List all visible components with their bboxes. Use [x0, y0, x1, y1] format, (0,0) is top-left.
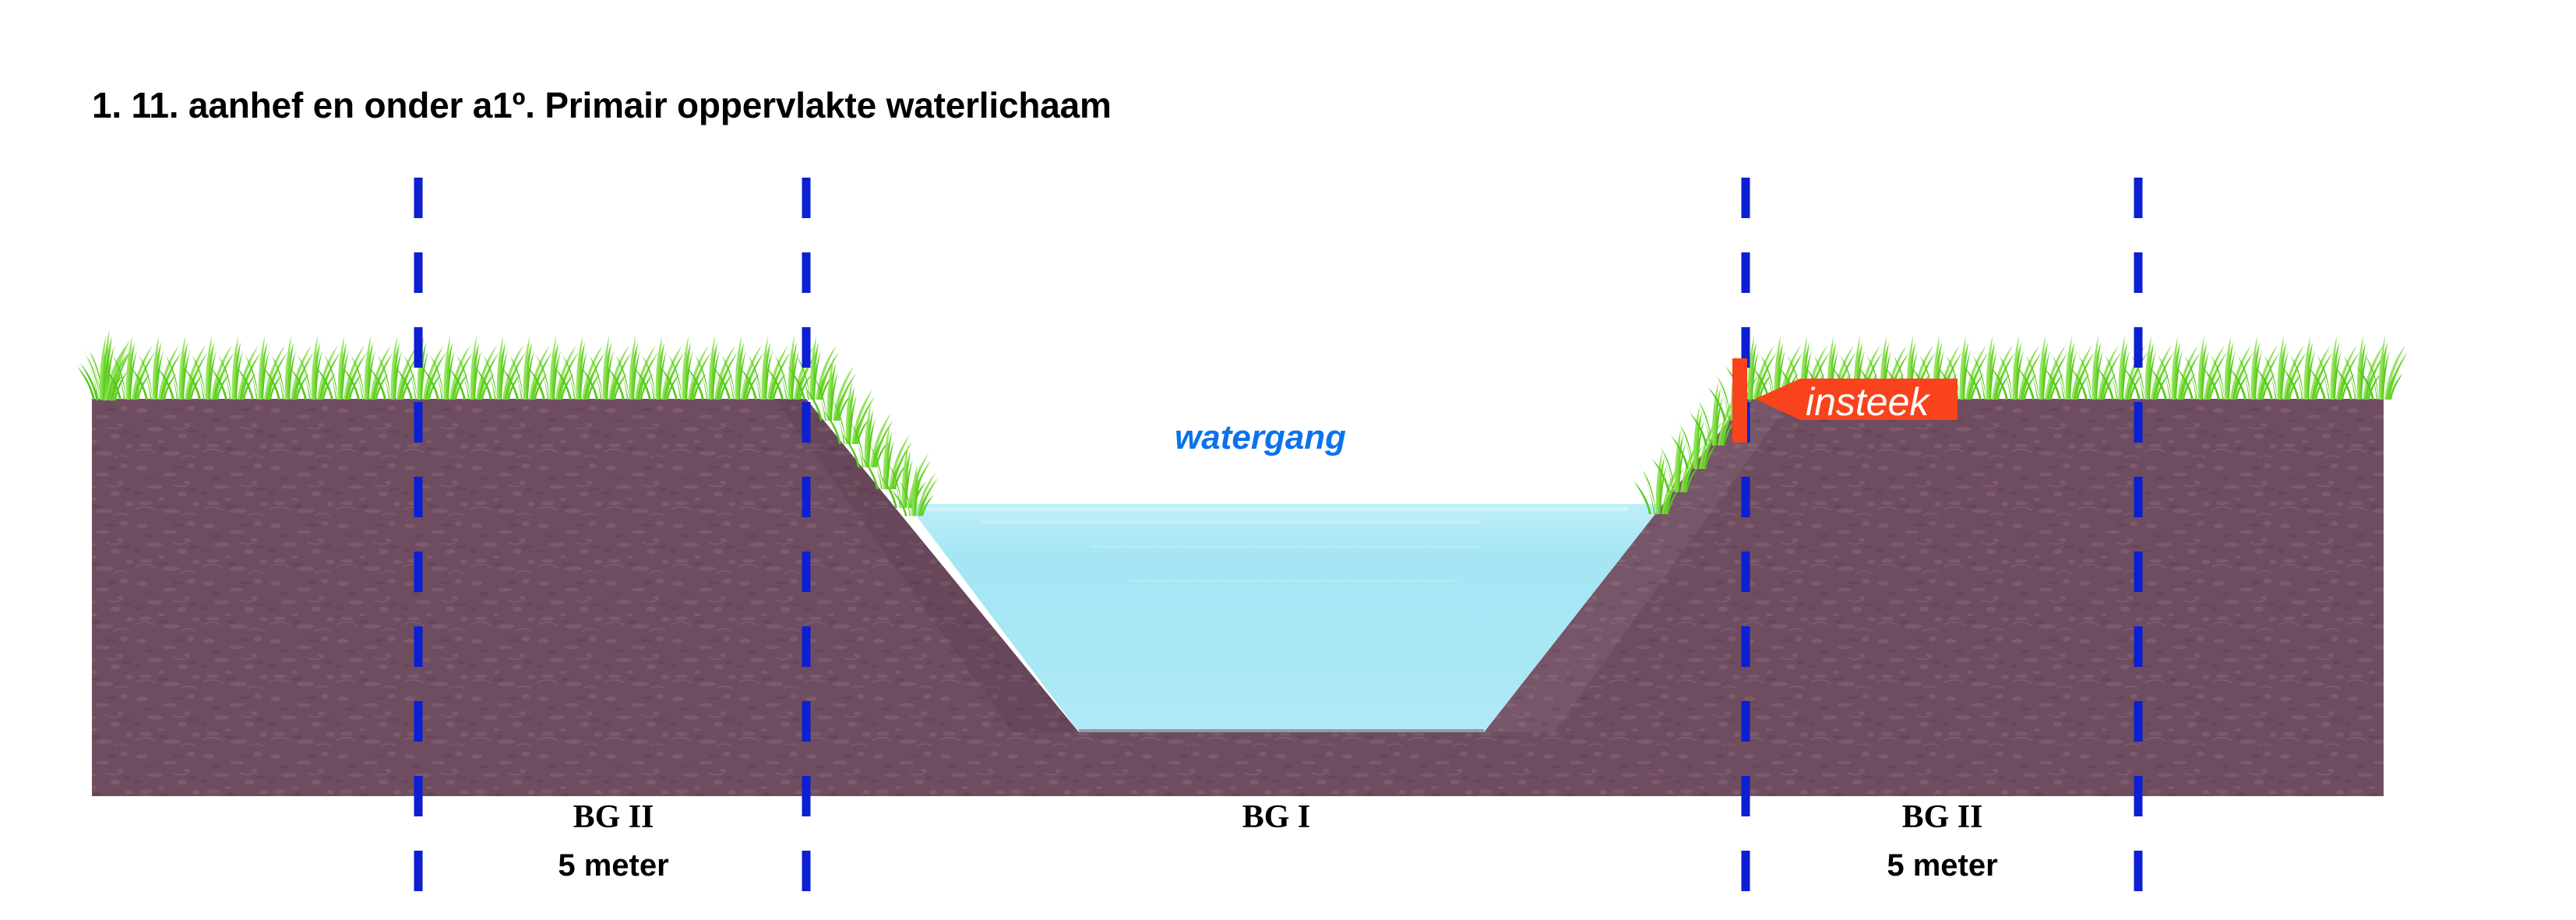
zone-middle-name: BG I: [807, 799, 1746, 836]
zone-left-name: BG II: [421, 799, 806, 836]
watergang-label: watergang: [1175, 418, 1346, 457]
zone-right-name: BG II: [1746, 799, 2138, 836]
zone-label-right: BG II 5 meter: [1746, 799, 2138, 883]
channel-bed-line: [1079, 729, 1484, 734]
zone-right-width: 5 meter: [1746, 848, 2138, 883]
cross-section-drawing: [0, 0, 2576, 920]
diagram-canvas: 1. 11. aanhef en onder a1º. Primair oppe…: [0, 0, 2576, 920]
insteek-marker-post: [1732, 358, 1747, 442]
zone-label-middle: BG I: [807, 799, 1746, 848]
zone-label-left: BG II 5 meter: [421, 799, 806, 883]
grass-row-left: [77, 336, 839, 400]
insteek-label: insteek: [1806, 379, 1929, 425]
zone-left-width: 5 meter: [421, 848, 806, 883]
